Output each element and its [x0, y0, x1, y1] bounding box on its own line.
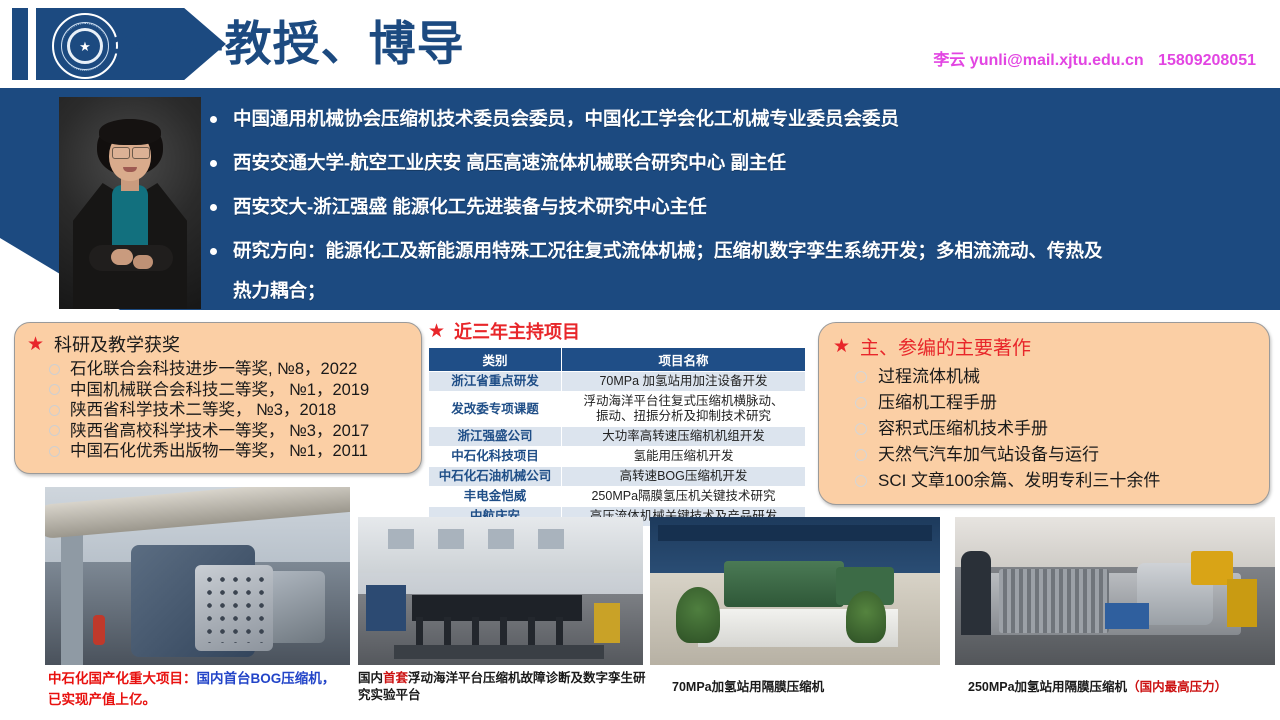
table-row: 发改委专项课题 浮动海洋平台往复式压缩机横脉动、 振动、扭振分析及抑制技术研究 [429, 392, 806, 427]
cell-name: 浮动海洋平台往复式压缩机横脉动、 振动、扭振分析及抑制技术研究 [562, 392, 806, 427]
caption-part-b: 浮动海洋平台压缩机故障诊断及数字 [408, 671, 608, 685]
bullet-text: 西安交通大学-航空工业庆安 高压高速流体机械联合研究中心 副主任 [233, 148, 1260, 178]
bullet-text: 研究方向：能源化工及新能源用特殊工况往复式流体机械；压缩机数字孪生系统开发；多相… [233, 240, 1103, 261]
slide-root: ★ 李云-教授、博导 李云 yunli@mail.xjtu.edu.cn 158… [0, 0, 1280, 720]
column-header-category: 类别 [429, 348, 562, 372]
awards-title-row: ★ 科研及教学获奖 [27, 331, 411, 357]
cell-name: 高转速BOG压缩机开发 [562, 467, 806, 487]
list-item: 陕西省高校科学技术一等奖， №3，2017 [49, 421, 411, 442]
photo-250mpa-compressor [955, 517, 1275, 665]
cell-name: 氢能用压缩机开发 [562, 447, 806, 467]
cell-category: 中石化科技项目 [429, 447, 562, 467]
cell-category: 发改委专项课题 [429, 392, 562, 427]
ring-bullet-icon [49, 364, 60, 375]
bullet-text-line2: 热力耦合； [233, 276, 1260, 306]
contact-info: 李云 yunli@mail.xjtu.edu.cn 15809208051 [933, 46, 1256, 70]
caption-250mpa-compressor: 250MPa加氢站用隔膜压缩机（国内最高压力） [968, 678, 1278, 697]
cell-name: 250MPa隔膜氢压机关键技术研究 [562, 487, 806, 507]
intro-bullet-list: 中国通用机械协会压缩机技术委员会委员，中国化工学会化工机械专业委员会委员 西安交… [210, 104, 1260, 306]
book-text: 容积式压缩机技术手册 [878, 416, 1048, 442]
list-item: 中国机械联合会科技二等奖， №1，2019 [49, 380, 411, 401]
list-item: 容积式压缩机技术手册 [855, 416, 1259, 442]
contact-email[interactable]: yunli@mail.xjtu.edu.cn [970, 52, 1144, 69]
caption-part-red2: 已实现产值上亿。 [48, 692, 156, 707]
bullet-dot-icon [210, 204, 217, 211]
list-item: 西安交大-浙江强盛 能源化工先进装备与技术研究中心主任 [210, 192, 1260, 222]
bullet-text-wrap: 研究方向：能源化工及新能源用特殊工况往复式流体机械；压缩机数字孪生系统开发；多相… [233, 236, 1260, 306]
projects-table: 类别 项目名称 浙江省重点研发 70MPa 加氢站用加注设备开发 发改委专项课题… [428, 347, 806, 527]
table-row: 浙江强盛公司 大功率高转速压缩机机组开发 [429, 427, 806, 447]
cell-category: 中石化石油机械公司 [429, 467, 562, 487]
ring-bullet-icon [855, 423, 867, 435]
list-item: 中国石化优秀出版物一等奖， №1，2011 [49, 441, 411, 462]
slide-header: ★ 李云-教授、博导 李云 yunli@mail.xjtu.edu.cn 158… [0, 0, 1280, 88]
book-text: SCI 文章100余篇、发明专利三十余件 [878, 468, 1160, 494]
bullet-text: 西安交大-浙江强盛 能源化工先进装备与技术研究中心主任 [233, 192, 1260, 222]
table-row: 浙江省重点研发 70MPa 加氢站用加注设备开发 [429, 372, 806, 392]
award-text: 石化联合会科技进步一等奖, №8，2022 [70, 359, 357, 380]
book-text: 天然气汽车加气站设备与运行 [878, 442, 1099, 468]
ring-bullet-icon [49, 425, 60, 436]
cell-category: 丰电金恺威 [429, 487, 562, 507]
award-text: 陕西省高校科学技术一等奖， №3，2017 [70, 421, 369, 442]
star-icon: ★ [27, 335, 44, 354]
photo-70mpa-station [650, 517, 940, 665]
cell-name: 70MPa 加氢站用加注设备开发 [562, 372, 806, 392]
bullet-dot-icon [210, 160, 217, 167]
bullet-dot-icon [210, 116, 217, 123]
caption-part-red: 中石化国产化重大项目： [48, 671, 197, 686]
header-accent-bar [12, 8, 28, 80]
awards-title: 科研及教学获奖 [54, 331, 180, 357]
cell-name: 大功率高转速压缩机机组开发 [562, 427, 806, 447]
projects-title-row: ★ 近三年主持项目 [428, 318, 806, 344]
contact-phone: 15809208051 [1158, 52, 1256, 69]
star-icon: ★ [833, 337, 850, 356]
list-item: 西安交通大学-航空工业庆安 高压高速流体机械联合研究中心 副主任 [210, 148, 1260, 178]
list-item: 陕西省科学技术二等奖， №3，2018 [49, 400, 411, 421]
award-text: 陕西省科学技术二等奖， №3，2018 [70, 400, 336, 421]
caption-part-highlight: 首套 [383, 671, 408, 685]
projects-title: 近三年主持项目 [454, 318, 580, 344]
caption-bog-compressor: 中石化国产化重大项目：国内首台BOG压缩机，已实现产值上亿。 [48, 668, 348, 710]
caption-part-blue2: 缩机， [295, 671, 336, 686]
list-item: 天然气汽车加气站设备与运行 [855, 442, 1259, 468]
ring-bullet-icon [855, 449, 867, 461]
cell-category: 浙江省重点研发 [429, 372, 562, 392]
table-row: 中石化石油机械公司 高转速BOG压缩机开发 [429, 467, 806, 487]
bullet-text: 中国通用机械协会压缩机技术委员会委员，中国化工学会化工机械专业委员会委员 [233, 104, 1260, 134]
list-item: 过程流体机械 [855, 364, 1259, 390]
ring-bullet-icon [49, 405, 60, 416]
caption-part-blue: 国内首台BOG压 [197, 671, 295, 686]
list-item: 压缩机工程手册 [855, 390, 1259, 416]
table-row: 中石化科技项目 氢能用压缩机开发 [429, 447, 806, 467]
list-item: 石化联合会科技进步一等奖, №8，2022 [49, 359, 411, 380]
caption-floating-platform: 国内首套浮动海洋平台压缩机故障诊断及数字孪生研究实验平台 [358, 670, 648, 704]
list-item: 中国通用机械协会压缩机技术委员会委员，中国化工学会化工机械专业委员会委员 [210, 104, 1260, 134]
book-text: 过程流体机械 [878, 364, 980, 390]
table-row: 丰电金恺威 250MPa隔膜氢压机关键技术研究 [429, 487, 806, 507]
ring-bullet-icon [855, 475, 867, 487]
books-title: 主、参编的主要著作 [860, 333, 1031, 360]
caption-part-highlight: （国内最高压力） [1127, 680, 1227, 694]
photo-floating-platform [358, 517, 643, 665]
column-header-name: 项目名称 [562, 348, 806, 372]
list-item: 研究方向：能源化工及新能源用特殊工况往复式流体机械；压缩机数字孪生系统开发；多相… [210, 236, 1260, 306]
books-card: ★ 主、参编的主要著作 过程流体机械 压缩机工程手册 容积式压缩机技术手册 天然… [818, 322, 1270, 505]
ring-bullet-icon [855, 397, 867, 409]
bullet-dot-icon [210, 248, 217, 255]
book-text: 压缩机工程手册 [878, 390, 997, 416]
avatar [59, 97, 201, 309]
list-item: SCI 文章100余篇、发明专利三十余件 [855, 468, 1259, 494]
awards-card: ★ 科研及教学获奖 石化联合会科技进步一等奖, №8，2022 中国机械联合会科… [14, 322, 422, 474]
table-header-row: 类别 项目名称 [429, 348, 806, 372]
projects-section: ★ 近三年主持项目 类别 项目名称 浙江省重点研发 70MPa 加氢站用加注设备… [428, 318, 806, 527]
award-text: 中国机械联合会科技二等奖， №1，2019 [70, 380, 369, 401]
caption-part-a: 250MPa加氢站用隔膜压缩机 [968, 680, 1127, 694]
caption-part-a: 国内 [358, 671, 383, 685]
books-title-row: ★ 主、参编的主要著作 [833, 333, 1259, 360]
cell-category: 浙江强盛公司 [429, 427, 562, 447]
award-text: 中国石化优秀出版物一等奖， №1，2011 [70, 441, 368, 462]
xjtu-seal-icon: ★ [52, 13, 118, 79]
awards-list: 石化联合会科技进步一等奖, №8，2022 中国机械联合会科技二等奖， №1，2… [27, 359, 411, 462]
ring-bullet-icon [49, 384, 60, 395]
books-list: 过程流体机械 压缩机工程手册 容积式压缩机技术手册 天然气汽车加气站设备与运行 … [833, 364, 1259, 494]
star-icon: ★ [428, 322, 445, 341]
ring-bullet-icon [49, 446, 60, 457]
page-title: 李云-教授、博导 [112, 12, 465, 76]
ring-bullet-icon [855, 371, 867, 383]
contact-name: 李云 [933, 52, 965, 69]
photo-bog-compressor [45, 487, 350, 665]
caption-70mpa-station: 70MPa加氢站用隔膜压缩机 [672, 678, 962, 697]
